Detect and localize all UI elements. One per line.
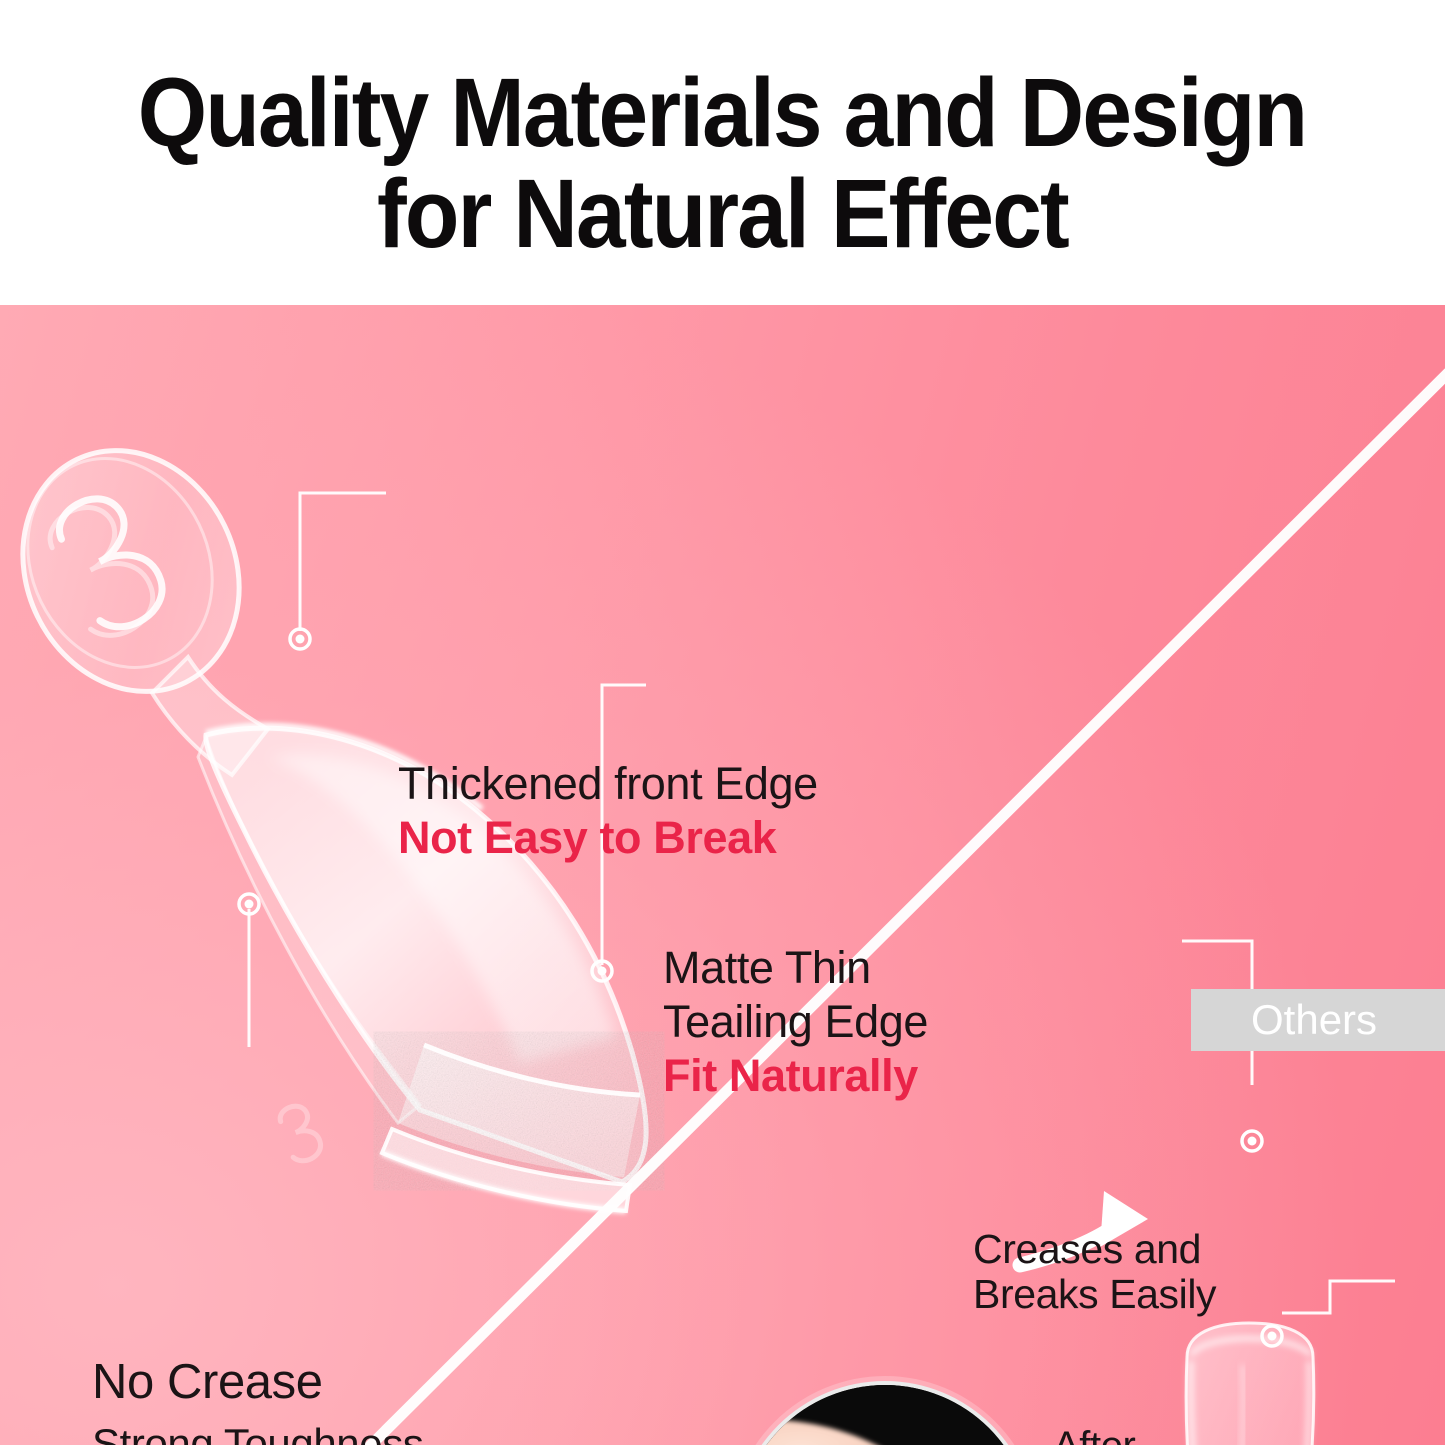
comparison-badge-others: Others <box>1191 989 1445 1051</box>
callout-creases-and-breaks: Creases and Breaks Easily <box>973 1227 1216 1317</box>
comparison-panel: Thickened front Edge Not Easy to Break M… <box>0 305 1445 1445</box>
callout-matte-line1: Matte Thin <box>663 941 928 995</box>
callout-leader-lines <box>0 305 1445 1445</box>
callout-nocrease-line2: Strong Toughness <box>92 1413 423 1445</box>
callout-after-bend: After Bend <box>1053 1423 1145 1445</box>
callout-matte-line2: Teailing Edge <box>663 995 928 1049</box>
callout-matte-thin-edge: Matte Thin Teailing Edge Fit Naturally <box>663 941 928 1103</box>
callout-thickened-line2: Not Easy to Break <box>398 811 818 865</box>
bend-demo-photo-content <box>738 1385 1032 1445</box>
callout-no-crease: No Crease Strong Toughness <box>92 1351 423 1445</box>
callout-creases-line2: Breaks Easily <box>973 1272 1216 1317</box>
bend-demo-photo <box>734 1381 1036 1445</box>
callout-thickened-front-edge: Thickened front Edge Not Easy to Break <box>398 757 818 865</box>
callout-nocrease-line1: No Crease <box>92 1351 423 1413</box>
callout-creases-line1: Creases and <box>973 1227 1216 1272</box>
page-title-line2: for Natural Effect <box>377 163 1068 264</box>
comparison-badge-label: Others <box>1251 996 1377 1044</box>
callout-matte-line3: Fit Naturally <box>663 1049 928 1103</box>
page-title-line1: Quality Materials and Design <box>138 62 1306 163</box>
others-bent-nail-tip-illustration <box>1135 1305 1365 1445</box>
infographic-root: Quality Materials and Design for Natural… <box>0 0 1445 1445</box>
header-band: Quality Materials and Design for Natural… <box>0 0 1445 305</box>
callout-thickened-line1: Thickened front Edge <box>398 757 818 811</box>
diagonal-divider <box>0 305 1445 1445</box>
callout-afterbend-line1: After <box>1053 1423 1145 1445</box>
modelones-nail-tip-illustration <box>0 305 1445 1445</box>
